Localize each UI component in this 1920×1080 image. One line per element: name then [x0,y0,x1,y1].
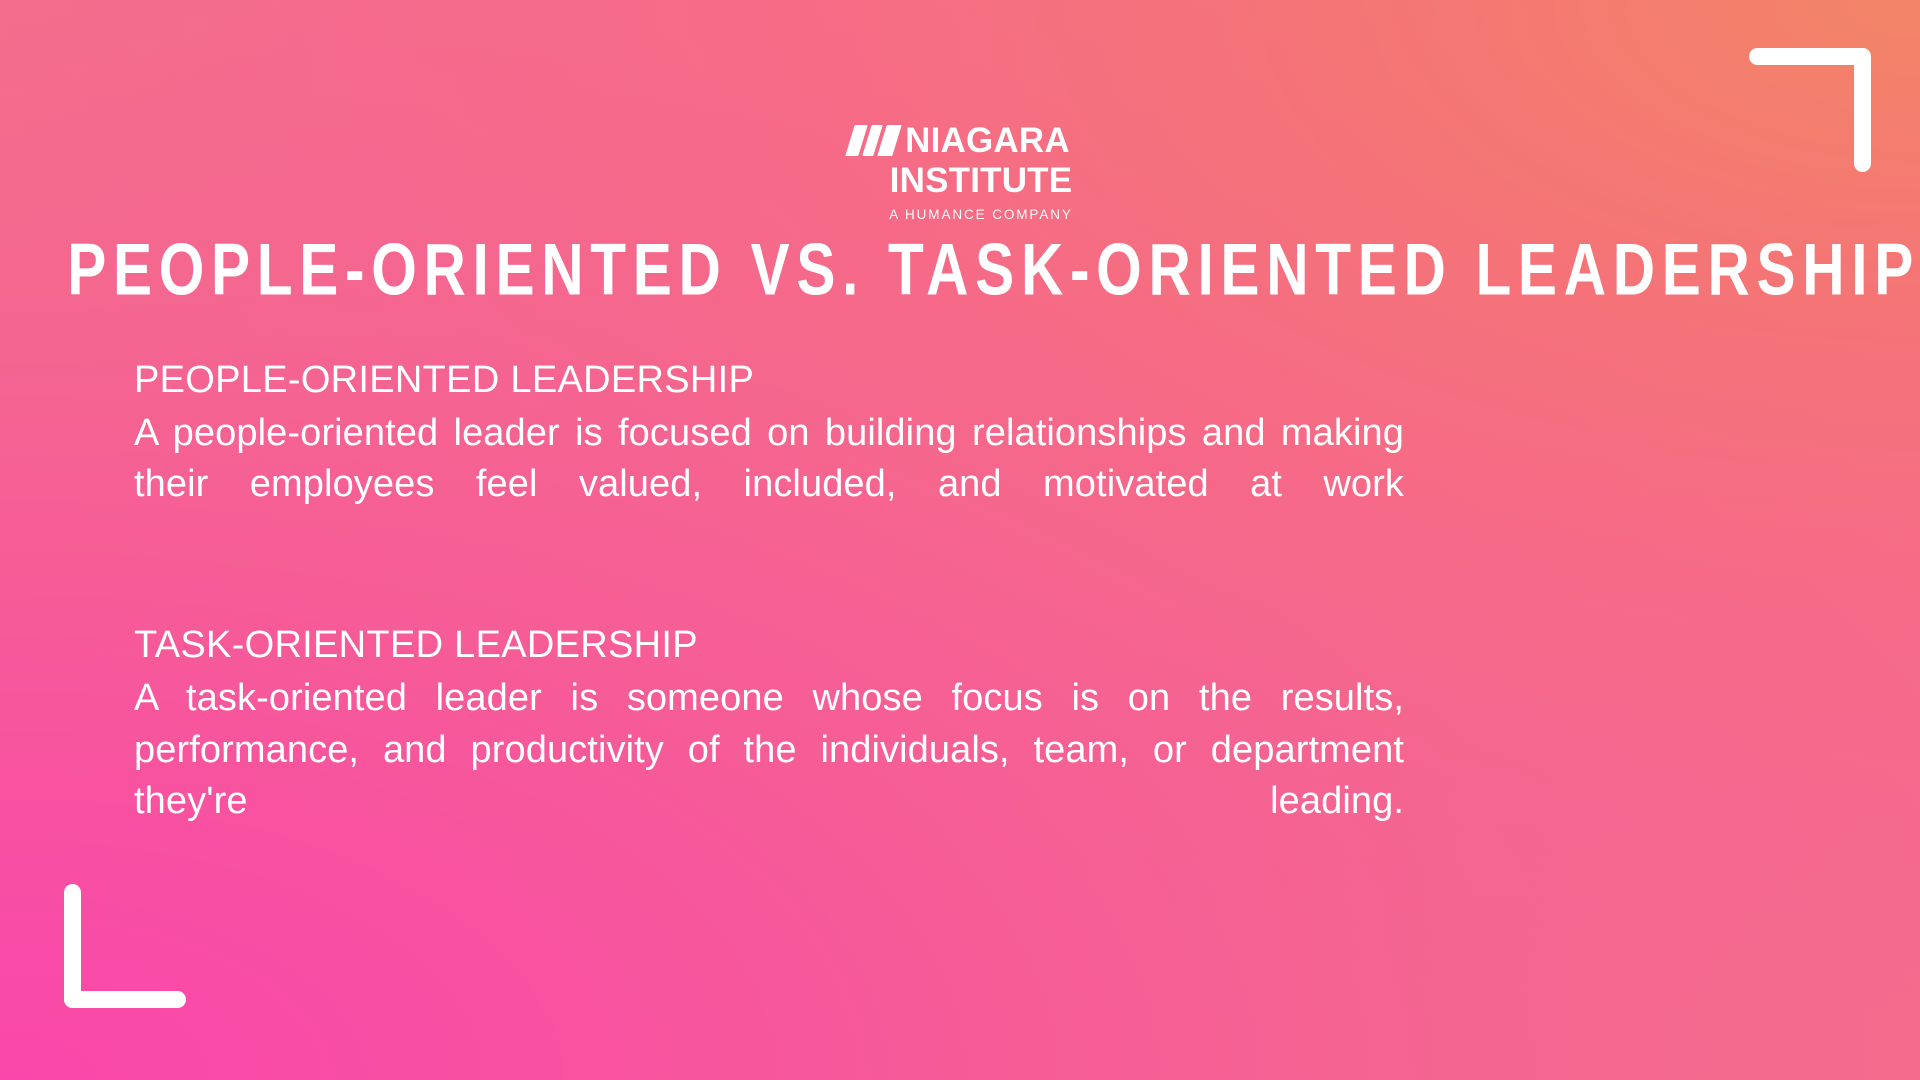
body-content: PEOPLE-ORIENTED LEADERSHIP A people-orie… [134,360,1404,878]
section-body-people: A people-oriented leader is focused on b… [134,408,1404,561]
three-slashes-icon [850,125,897,156]
section-heading-people: PEOPLE-ORIENTED LEADERSHIP [134,360,1404,401]
section-spacer [134,561,1404,625]
page-title: PEOPLE-ORIENTED VS. TASK-ORIENTED LEADER… [67,234,1853,307]
corner-bracket-bottom-left-icon [64,884,186,1008]
section-heading-task: TASK-ORIENTED LEADERSHIP [134,625,1404,666]
bracket-horizontal-bar [64,991,186,1008]
logo-name-line1: NIAGARA [905,123,1070,158]
brand-logo: NIAGARA INSTITUTE A HUMANCE COMPANY [0,123,1920,222]
bracket-horizontal-bar [1749,48,1871,65]
bracket-vertical-bar [64,884,81,1008]
logo-primary-row: NIAGARA [850,123,1070,158]
section-body-task: A task-oriented leader is someone whose … [134,673,1404,877]
logo-name-line2: INSTITUTE [890,163,1073,198]
slide-canvas: NIAGARA INSTITUTE A HUMANCE COMPANY PEOP… [0,0,1920,1080]
logo-tagline: A HUMANCE COMPANY [889,207,1073,222]
